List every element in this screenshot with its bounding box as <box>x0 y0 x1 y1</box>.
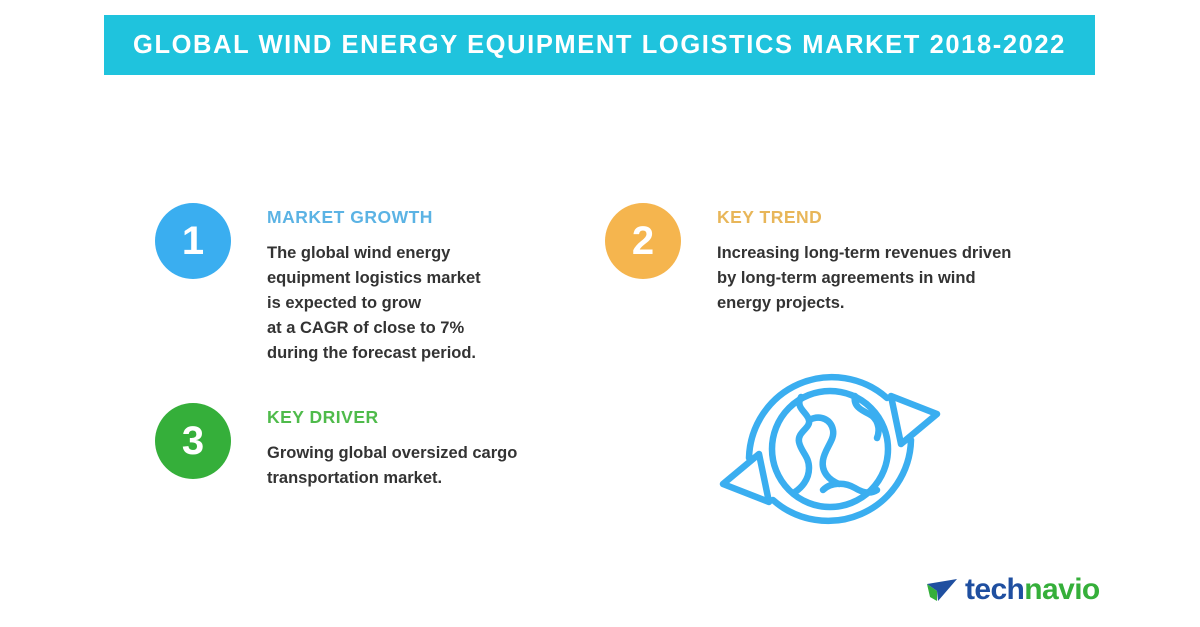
point-text-1: MARKET GROWTH The global wind energy equ… <box>267 203 481 366</box>
point-number-badge-3: 3 <box>155 403 231 479</box>
technavio-logo: technavio <box>925 575 1100 605</box>
point-heading-1: MARKET GROWTH <box>267 209 481 227</box>
point-block-2: 2 KEY TREND Increasing long-term revenue… <box>605 203 1011 316</box>
arrow-left <box>723 454 769 502</box>
point-block-1: 1 MARKET GROWTH The global wind energy e… <box>155 203 481 366</box>
point-body-1: The global wind energy equipment logisti… <box>267 241 481 366</box>
globe-recycle-icon <box>705 352 955 547</box>
logo-text-tech: tech <box>965 573 1024 606</box>
point-heading-3: KEY DRIVER <box>267 409 517 427</box>
point-block-3: 3 KEY DRIVER Growing global oversized ca… <box>155 403 517 491</box>
point-body-2: Increasing long-term revenues driven by … <box>717 241 1011 316</box>
continent-center <box>809 418 839 484</box>
logo-wordmark: technavio <box>965 575 1100 605</box>
point-body-3: Growing global oversized cargo transport… <box>267 441 517 491</box>
infographic-canvas: GLOBAL WIND ENERGY EQUIPMENT LOGISTICS M… <box>0 0 1200 627</box>
point-number-badge-2: 2 <box>605 203 681 279</box>
point-text-3: KEY DRIVER Growing global oversized carg… <box>267 403 517 491</box>
logo-text-navio: navio <box>1024 573 1099 606</box>
continent-left <box>795 397 809 492</box>
paper-plane-icon <box>925 577 959 603</box>
page-title: GLOBAL WIND ENERGY EQUIPMENT LOGISTICS M… <box>133 31 1066 60</box>
point-heading-2: KEY TREND <box>717 209 1011 227</box>
point-text-2: KEY TREND Increasing long-term revenues … <box>717 203 1011 316</box>
point-number-badge-1: 1 <box>155 203 231 279</box>
arrow-right <box>891 396 937 444</box>
header-bar: GLOBAL WIND ENERGY EQUIPMENT LOGISTICS M… <box>104 15 1095 75</box>
